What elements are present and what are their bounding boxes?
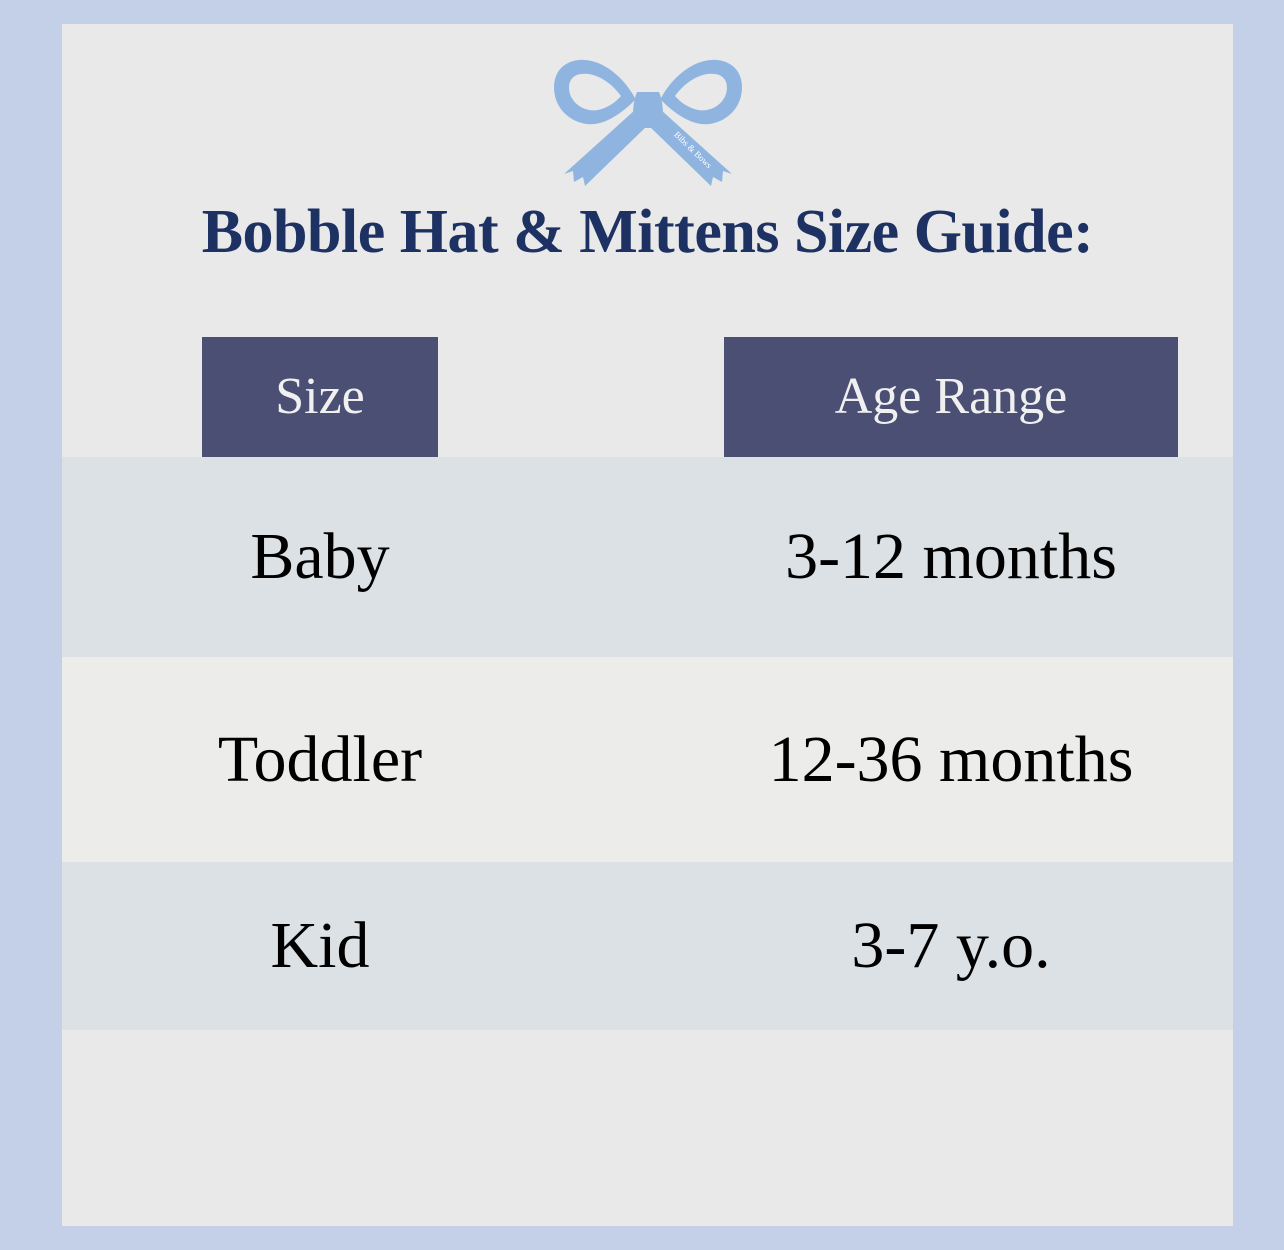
column-header-size: Size — [202, 337, 438, 457]
size-guide-card: Bibs & Bows Bobble Hat & Mittens Size Gu… — [62, 24, 1233, 1226]
table-row: Kid 3-7 y.o. — [62, 862, 1233, 1030]
table-row: Toddler 12-36 months — [62, 657, 1233, 862]
page-title: Bobble Hat & Mittens Size Guide: — [62, 200, 1233, 265]
size-guide-table: Size Age Range Baby 3-12 months Toddler … — [62, 313, 1233, 1210]
table-row: Baby 3-12 months — [62, 457, 1233, 657]
table-bottom-spacer — [62, 1030, 1233, 1210]
cell-age-range: 12-36 months — [724, 657, 1178, 862]
cell-age-range: 3-7 y.o. — [724, 862, 1178, 1030]
cell-age-range: 3-12 months — [724, 457, 1178, 657]
ribbon-bow-icon: Bibs & Bows — [543, 40, 753, 195]
cell-size: Kid — [202, 862, 438, 1030]
size-guide-page: Bibs & Bows Bobble Hat & Mittens Size Gu… — [0, 0, 1284, 1250]
cell-size: Toddler — [202, 657, 438, 862]
column-header-age-range: Age Range — [724, 337, 1178, 457]
brand-logo: Bibs & Bows — [62, 40, 1233, 200]
table-header-row: Size Age Range — [62, 313, 1233, 457]
cell-size: Baby — [202, 457, 438, 657]
